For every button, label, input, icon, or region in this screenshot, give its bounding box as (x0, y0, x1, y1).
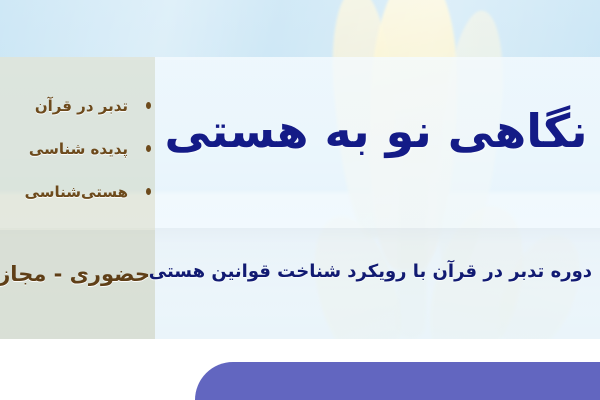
topic-label: هستی‌شناسی (25, 183, 128, 201)
topic-label: تدبر در قرآن (35, 97, 128, 115)
bullet-dot-icon (146, 145, 151, 152)
course-poster: تدبر در قرآن پدیده شناسی هستی‌شناسی نگاه… (0, 0, 600, 400)
list-item: تدبر در قرآن (0, 84, 155, 127)
page-subtitle: دوره تدبر در قرآن با رویکرد شناخت قوانین… (160, 262, 592, 282)
background-sheen (0, 0, 600, 60)
page-title: نگاهی نو به هستی (160, 108, 592, 154)
list-item: هستی‌شناسی (0, 170, 155, 213)
bullet-dot-icon (146, 102, 151, 109)
attendance-mode-label: حضوری - مجازی (0, 262, 150, 286)
bottom-accent-bar (195, 362, 600, 400)
bullet-dot-icon (146, 188, 151, 195)
topics-list: تدبر در قرآن پدیده شناسی هستی‌شناسی (0, 84, 155, 213)
list-item: پدیده شناسی (0, 127, 155, 170)
topic-label: پدیده شناسی (29, 140, 128, 158)
